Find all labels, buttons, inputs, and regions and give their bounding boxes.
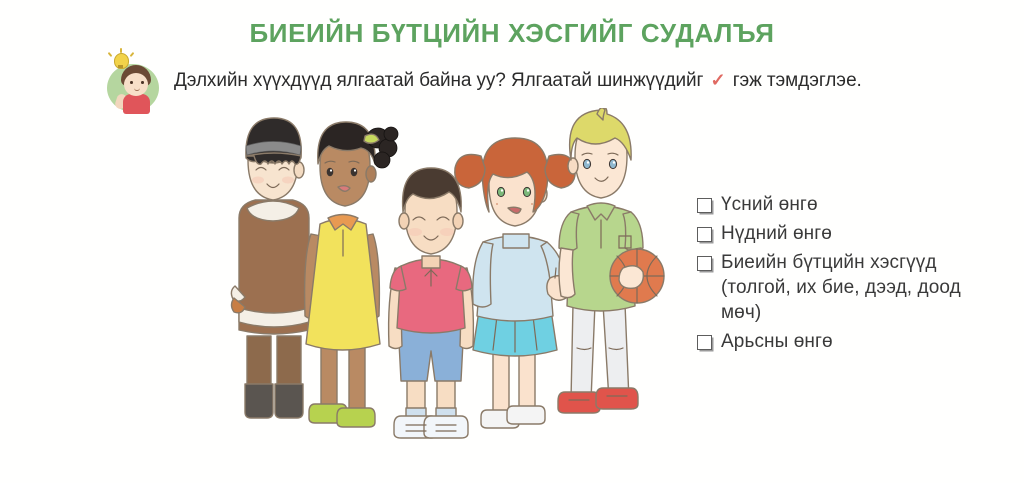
list-item[interactable]: Нүдний өнгө <box>697 221 977 246</box>
lightbulb-ray-icon <box>108 52 113 57</box>
checkbox-icon[interactable] <box>697 198 712 213</box>
thinking-boy-with-lightbulb-icon <box>100 48 166 114</box>
checklist: Үсний өнгө Нүдний өнгө Биеийн бүтцийн хэ… <box>697 192 977 358</box>
mascot-eye-right <box>141 81 144 84</box>
list-item-label: Үсний өнгө <box>721 192 818 217</box>
list-item-label: Нүдний өнгө <box>721 221 832 246</box>
worksheet-page: БИЕИЙН БҮТЦИЙН ХЭСГИЙГ СУДАЛЪЯ Дэлхийн х… <box>0 0 1024 483</box>
checkbox-icon[interactable] <box>697 335 712 350</box>
mascot-eye-left <box>130 81 133 84</box>
list-item-label: Арьсны өнгө <box>721 329 833 354</box>
child-2-girl-yellow-dress <box>305 122 398 427</box>
child-5-blonde-boy-basketball <box>558 108 664 413</box>
instruction-row: Дэлхийн хүүхдүүд ялгаатай байна уу? Ялга… <box>100 48 862 114</box>
checkbox-icon[interactable] <box>697 227 712 242</box>
children-illustration: .ol { stroke:#8a7a68; stroke-width:1.4; … <box>225 108 675 453</box>
lightbulb-base-icon <box>118 65 123 68</box>
page-title: БИЕИЙН БҮТЦИЙН ХЭСГИЙГ СУДАЛЪЯ <box>0 18 1024 49</box>
list-item[interactable]: Биеийн бүтцийн хэсгүүд (толгой, их бие, … <box>697 250 977 325</box>
lightbulb-ray-icon <box>130 52 135 57</box>
child-1-mongolian-boy <box>231 118 309 418</box>
mascot-body <box>123 94 150 114</box>
list-item[interactable]: Үсний өнгө <box>697 192 977 217</box>
instruction-text-before: Дэлхийн хүүхдүүд ялгаатай байна уу? Ялга… <box>174 70 703 91</box>
child-3-boy-pink-shirt <box>389 168 474 438</box>
mascot-face <box>124 73 148 96</box>
instruction-text: Дэлхийн хүүхдүүд ялгаатай байна уу? Ялга… <box>174 70 862 92</box>
checkbox-icon[interactable] <box>697 256 712 271</box>
list-item[interactable]: Арьсны өнгө <box>697 329 977 354</box>
instruction-text-after: гэж тэмдэглэе. <box>733 70 862 91</box>
list-item-label: Биеийн бүтцийн хэсгүүд (толгой, их бие, … <box>721 250 977 325</box>
checkmark-icon: ✓ <box>709 70 728 90</box>
child-4-redhead-girl <box>455 138 575 428</box>
